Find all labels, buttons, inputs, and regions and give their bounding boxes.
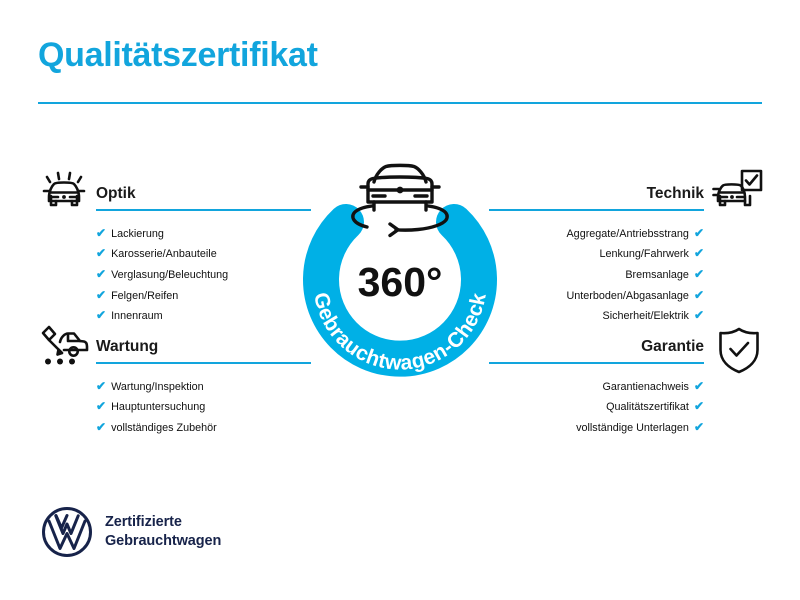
car-rotate-icon <box>353 165 447 235</box>
list-item-label: vollständiges Zubehör <box>111 418 217 439</box>
section-heading-optik: Optik <box>96 186 311 209</box>
list-item-label: Bremsanlage <box>625 265 689 286</box>
list-item-label: Hauptuntersuchung <box>111 397 205 418</box>
check-icon: ✔ <box>96 309 106 321</box>
check-icon: ✔ <box>96 421 106 433</box>
list-item-label: Unterboden/Abgasanlage <box>566 286 688 307</box>
list-item: vollständige Unterlagen✔ <box>489 418 704 439</box>
section-heading-wartung: Wartung <box>96 339 311 362</box>
check-icon: ✔ <box>694 380 704 392</box>
list-item: Bremsanlage✔ <box>489 265 704 286</box>
vw-lockup-line1: Zertifizierte <box>105 513 221 532</box>
list-item: ✔Wartung/Inspektion <box>96 377 311 398</box>
service-pen-car-icon <box>38 322 90 368</box>
list-item: ✔Lackierung <box>96 224 311 245</box>
list-item-label: vollständige Unterlagen <box>576 418 689 439</box>
check-icon: ✔ <box>694 400 704 412</box>
badge-center-label: 360° <box>358 259 443 305</box>
list-item-label: Verglasung/Beleuchtung <box>111 265 228 286</box>
list-item: ✔Hauptuntersuchung <box>96 397 311 418</box>
car-checkbox-icon <box>712 168 764 214</box>
list-item-label: Aggregate/Antriebsstrang <box>566 224 688 245</box>
list-item: ✔Innenraum <box>96 306 311 327</box>
check-icon: ✔ <box>96 380 106 392</box>
list-item-label: Karosserie/Anbauteile <box>111 244 217 265</box>
title-divider <box>38 102 762 104</box>
check-icon: ✔ <box>96 227 106 239</box>
section-list-garantie: Garantienachweis✔ Qualitätszertifikat✔ v… <box>489 364 704 439</box>
section-heading-technik: Technik <box>489 186 704 209</box>
check-icon: ✔ <box>96 400 106 412</box>
shield-check-icon <box>716 326 762 374</box>
section-list-wartung: ✔Wartung/Inspektion ✔Hauptuntersuchung ✔… <box>96 364 311 439</box>
section-garantie: Garantie Garantienachweis✔ Qualitätszert… <box>489 339 704 439</box>
check-icon: ✔ <box>694 309 704 321</box>
check-icon: ✔ <box>694 289 704 301</box>
section-list-technik: Aggregate/Antriebsstrang✔ Lenkung/Fahrwe… <box>489 211 704 328</box>
vw-certified-lockup: Zertifizierte Gebrauchtwagen <box>41 506 221 558</box>
list-item: ✔Verglasung/Beleuchtung <box>96 265 311 286</box>
check-icon: ✔ <box>96 289 106 301</box>
list-item: Qualitätszertifikat✔ <box>489 397 704 418</box>
vw-lockup-text: Zertifizierte Gebrauchtwagen <box>105 513 221 551</box>
list-item-label: Wartung/Inspektion <box>111 377 204 398</box>
list-item-label: Lenkung/Fahrwerk <box>600 244 689 265</box>
list-item-label: Qualitätszertifikat <box>606 397 689 418</box>
list-item: Sicherheit/Elektrik✔ <box>489 306 704 327</box>
car-shine-icon <box>38 168 90 214</box>
list-item: ✔Karosserie/Anbauteile <box>96 244 311 265</box>
list-item: ✔vollständiges Zubehör <box>96 418 311 439</box>
badge-360-gebrauchtwagen-check: Gebrauchtwagen-Check 360° <box>290 150 510 380</box>
check-icon: ✔ <box>694 421 704 433</box>
list-item-label: Sicherheit/Elektrik <box>603 306 689 327</box>
list-item: Lenkung/Fahrwerk✔ <box>489 244 704 265</box>
list-item-label: Felgen/Reifen <box>111 286 178 307</box>
section-heading-garantie: Garantie <box>489 339 704 362</box>
list-item: Aggregate/Antriebsstrang✔ <box>489 224 704 245</box>
check-icon: ✔ <box>694 227 704 239</box>
vw-roundel-logo <box>41 506 93 558</box>
check-icon: ✔ <box>96 268 106 280</box>
page-title: Qualitätszertifikat <box>38 37 318 74</box>
check-icon: ✔ <box>694 247 704 259</box>
section-technik: Technik Aggregate/Antriebsstrang✔ Lenkun… <box>489 186 704 327</box>
list-item: Unterboden/Abgasanlage✔ <box>489 286 704 307</box>
certificate-page: Qualitätszertifikat Optik ✔Lackierung ✔K… <box>0 0 800 600</box>
section-optik: Optik ✔Lackierung ✔Karosserie/Anbauteile… <box>96 186 311 327</box>
list-item-label: Innenraum <box>111 306 163 327</box>
vw-lockup-line2: Gebrauchtwagen <box>105 532 221 551</box>
section-wartung: Wartung ✔Wartung/Inspektion ✔Hauptunters… <box>96 339 311 439</box>
check-icon: ✔ <box>694 268 704 280</box>
list-item: ✔Felgen/Reifen <box>96 286 311 307</box>
section-list-optik: ✔Lackierung ✔Karosserie/Anbauteile ✔Verg… <box>96 211 311 328</box>
list-item: Garantienachweis✔ <box>489 377 704 398</box>
check-icon: ✔ <box>96 247 106 259</box>
list-item-label: Garantienachweis <box>603 377 689 398</box>
list-item-label: Lackierung <box>111 224 164 245</box>
